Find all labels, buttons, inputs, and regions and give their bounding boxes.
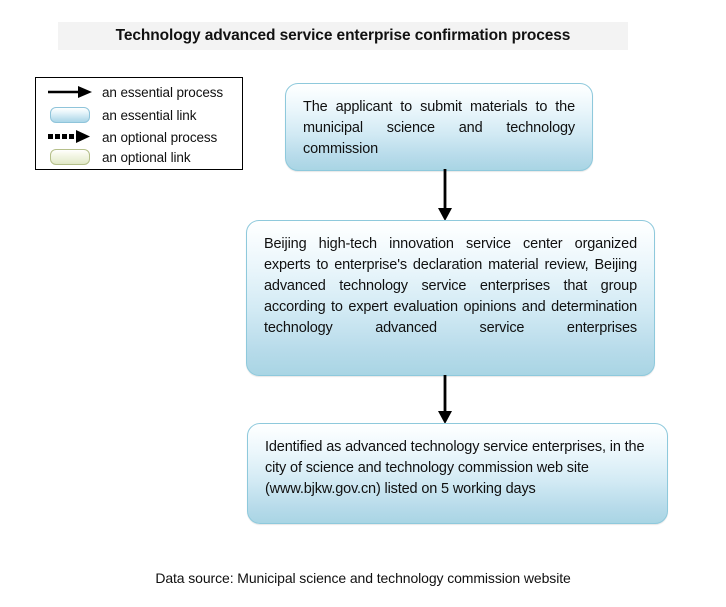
- legend-box: an essential process an essential link a…: [35, 77, 243, 170]
- legend-label: an essential link: [102, 108, 196, 123]
- process-step-2: Beijing high-tech innovation service cen…: [246, 220, 655, 376]
- solid-arrow-icon: [46, 82, 98, 102]
- legend-label: an optional process: [102, 130, 217, 145]
- legend-item-optional-process: an optional process: [36, 126, 244, 148]
- dotted-arrow-icon: [46, 127, 98, 147]
- legend-item-essential-link: an essential link: [36, 104, 244, 126]
- flowchart-canvas: Technology advanced service enterprise c…: [0, 0, 726, 607]
- legend-item-optional-link: an optional link: [36, 146, 244, 168]
- process-step-1-text: The applicant to submit materials to the…: [303, 97, 575, 171]
- process-step-3: Identified as advanced technology servic…: [247, 423, 668, 524]
- process-step-1: The applicant to submit materials to the…: [285, 83, 593, 171]
- data-source-note: Data source: Municipal science and techn…: [0, 570, 726, 586]
- process-step-2-text: Beijing high-tech innovation service cen…: [264, 234, 637, 360]
- connector-arrow-1: [434, 169, 456, 222]
- green-rounded-swatch-icon: [46, 147, 98, 167]
- legend-label: an optional link: [102, 150, 190, 165]
- legend-label: an essential process: [102, 85, 223, 100]
- connector-arrow-2: [434, 375, 456, 425]
- blue-rounded-swatch-icon: [46, 105, 98, 125]
- page-title: Technology advanced service enterprise c…: [58, 22, 628, 50]
- legend-item-essential-process: an essential process: [36, 81, 244, 103]
- process-step-3-text: Identified as advanced technology servic…: [265, 437, 650, 500]
